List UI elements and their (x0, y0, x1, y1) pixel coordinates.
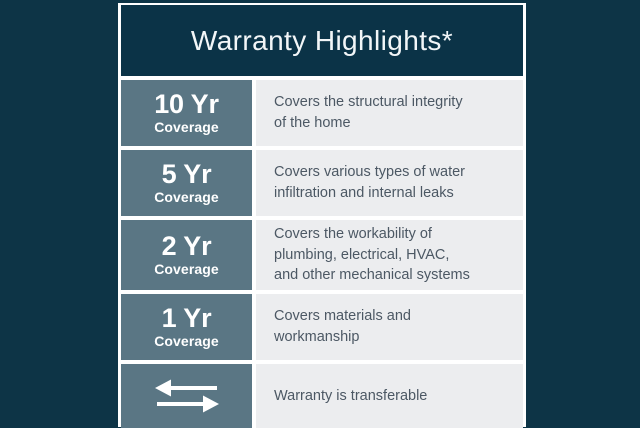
description-line: Covers the workability of (274, 224, 509, 245)
description-line: Covers the structural integrity (274, 92, 509, 113)
warranty-highlights-card: Warranty Highlights* 10 Yr Coverage Cove… (118, 3, 526, 427)
description-line: Covers various types of water (274, 162, 509, 183)
term-value: 5 Yr (162, 160, 212, 188)
warranty-row: 2 Yr Coverage Covers the workability of … (121, 220, 523, 290)
warranty-row: Warranty is transferable (121, 364, 523, 428)
description-line: Covers materials and (274, 306, 509, 327)
term-label: Coverage (154, 188, 219, 206)
term-cell (121, 364, 252, 428)
term-value: 1 Yr (162, 304, 212, 332)
description-line: Warranty is transferable (274, 386, 509, 407)
transfer-arrows-icon (151, 376, 223, 416)
warranty-row: 5 Yr Coverage Covers various types of wa… (121, 150, 523, 216)
description-line: of the home (274, 113, 509, 134)
term-cell: 10 Yr Coverage (121, 80, 252, 146)
card-header: Warranty Highlights* (121, 5, 523, 76)
description-line: plumbing, electrical, HVAC, (274, 245, 509, 266)
description-line: and other mechanical systems (274, 265, 509, 286)
warranty-row: 1 Yr Coverage Covers materials and workm… (121, 294, 523, 360)
term-value: 2 Yr (162, 232, 212, 260)
term-label: Coverage (154, 260, 219, 278)
description-cell: Covers the workability of plumbing, elec… (256, 220, 523, 290)
term-cell: 1 Yr Coverage (121, 294, 252, 360)
description-cell: Warranty is transferable (256, 364, 523, 428)
term-cell: 2 Yr Coverage (121, 220, 252, 290)
description-line: infiltration and internal leaks (274, 183, 509, 204)
term-value: 10 Yr (154, 90, 219, 118)
warranty-row: 10 Yr Coverage Covers the structural int… (121, 80, 523, 146)
description-cell: Covers materials and workmanship (256, 294, 523, 360)
description-cell: Covers the structural integrity of the h… (256, 80, 523, 146)
term-label: Coverage (154, 332, 219, 350)
page-title: Warranty Highlights* (191, 27, 453, 55)
description-cell: Covers various types of water infiltrati… (256, 150, 523, 216)
description-line: workmanship (274, 327, 509, 348)
term-cell: 5 Yr Coverage (121, 150, 252, 216)
term-label: Coverage (154, 118, 219, 136)
